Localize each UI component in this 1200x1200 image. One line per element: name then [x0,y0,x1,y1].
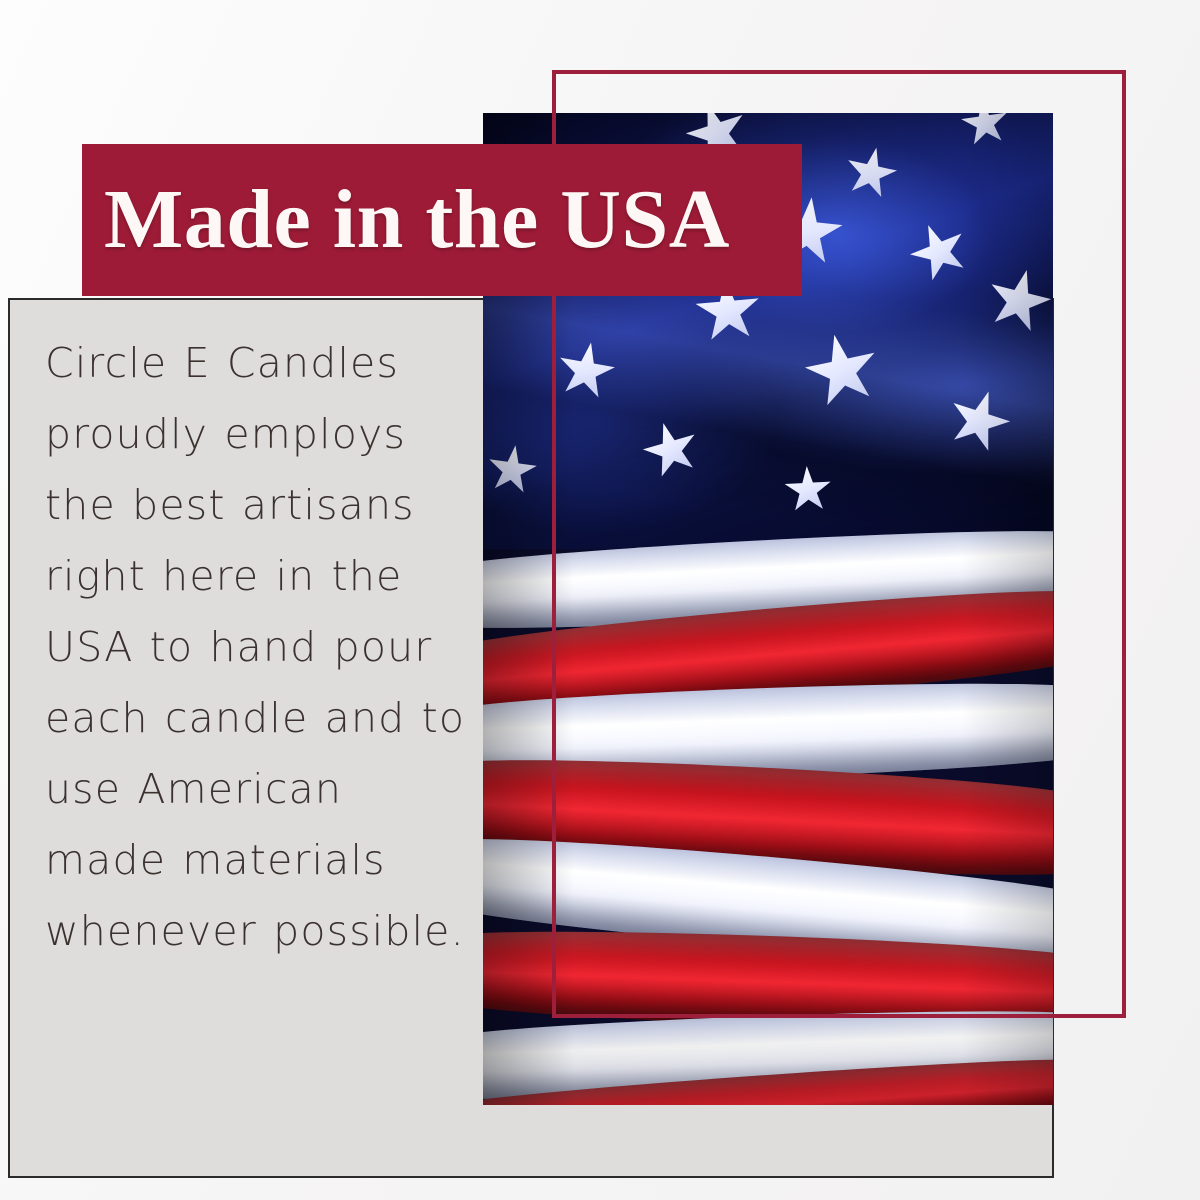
headline-title: Made in the USA [82,178,730,262]
body-paragraph: Circle E Candles proudly employs the bes… [45,328,475,967]
promo-graphic: Made in the USA Circle E Candles proudly… [0,0,1200,1200]
headline-banner: Made in the USA [82,144,802,296]
